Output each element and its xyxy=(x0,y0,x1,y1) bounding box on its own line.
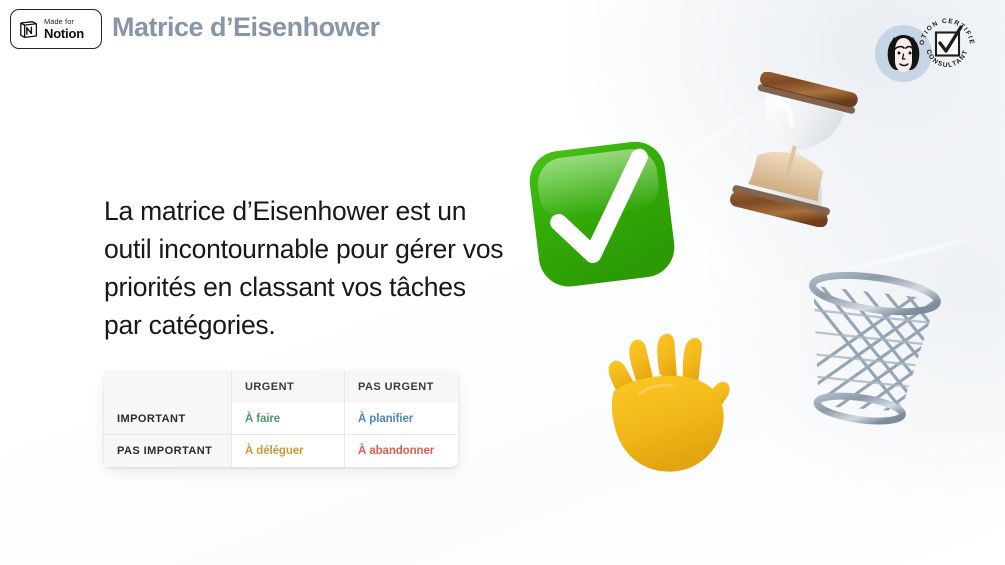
light-streak xyxy=(906,432,1005,460)
wastebasket-emoji xyxy=(783,266,951,431)
column-header-pas-urgent: PAS URGENT xyxy=(345,371,458,403)
notion-certified-consultant-badge: NOTION CERTIFIED CONSULTANT xyxy=(915,12,979,76)
cell-important-urgent: À faire xyxy=(232,403,345,435)
checkbox-check-icon xyxy=(936,27,961,56)
slide-canvas: Made for Notion Matrice d’Eisenhower xyxy=(0,0,1005,565)
row-header-pas-important: PAS IMPORTANT xyxy=(104,435,232,467)
cell-pas-important-pas-urgent: À abandonner xyxy=(345,435,458,467)
hourglass-emoji xyxy=(724,72,864,227)
made-for-notion-badge: Made for Notion xyxy=(10,9,102,49)
cell-pas-important-urgent: À déléguer xyxy=(232,435,345,467)
page-title: Matrice d’Eisenhower xyxy=(112,12,380,43)
notion-logo-icon xyxy=(18,19,39,40)
table-header-row: URGENT PAS URGENT xyxy=(104,371,458,403)
raised-hand-emoji xyxy=(583,330,745,480)
cell-important-pas-urgent: À planifier xyxy=(345,403,458,435)
table-row: IMPORTANT À faire À planifier xyxy=(104,403,458,435)
green-check-mark-emoji xyxy=(516,134,691,294)
badge-product-label: Notion xyxy=(44,27,84,40)
table-row: PAS IMPORTANT À déléguer À abandonner xyxy=(104,435,458,467)
badge-made-for-label: Made for xyxy=(44,18,84,25)
row-header-important: IMPORTANT xyxy=(104,403,232,435)
certification-cluster: NOTION CERTIFIED CONSULTANT xyxy=(875,12,987,84)
table-corner-cell xyxy=(104,371,232,403)
eisenhower-matrix-table: URGENT PAS URGENT IMPORTANT À faire À pl… xyxy=(104,371,458,467)
intro-paragraph: La matrice d’Eisenhower est un outil inc… xyxy=(104,192,504,345)
column-header-urgent: URGENT xyxy=(232,371,345,403)
